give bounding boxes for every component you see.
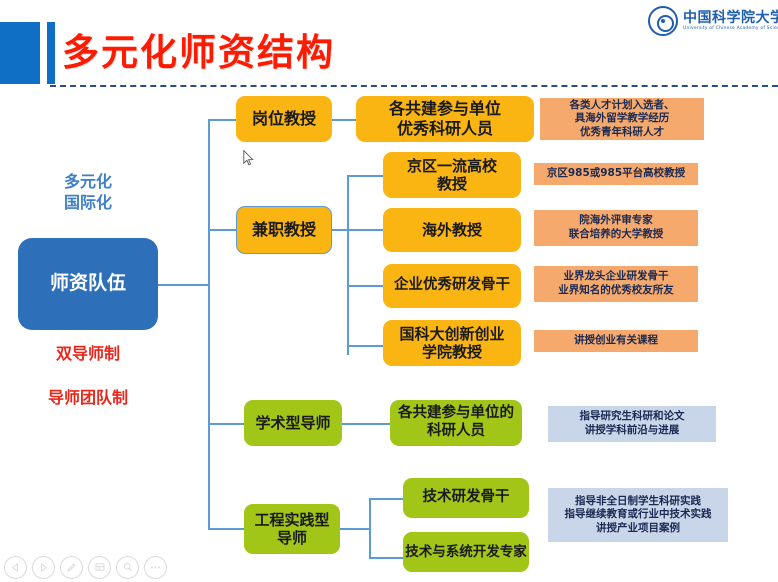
branch-node-engineering-mentor[interactable]: 工程实践型 导师: [244, 504, 340, 554]
university-logo: 中国科学院大学 University of Chinese Academy of…: [648, 4, 774, 38]
branch-node-academic-mentor[interactable]: 学术型导师: [244, 400, 342, 446]
previous-slide-button[interactable]: [4, 556, 27, 579]
child-node-adjunct-4[interactable]: 国科大创新创业 学院教授: [383, 320, 521, 366]
presentation-toolbar[interactable]: [4, 555, 167, 579]
connector-engineering-child-1: [369, 498, 403, 500]
zoom-button[interactable]: [116, 556, 139, 579]
root-node-faculty-team[interactable]: 师资队伍: [18, 238, 158, 330]
tag-engineering-group: 指导非全日制学生科研实践 指导继续教育或行业中技术实践 讲授产业项目案例: [548, 488, 728, 542]
child-node-adjunct-1[interactable]: 京区一流高校 教授: [383, 152, 521, 198]
connector-post-professor-to-child: [332, 119, 356, 121]
connector-adjunct-spine: [347, 175, 349, 355]
slide-canvas: 中国科学院大学 University of Chinese Academy of…: [0, 0, 778, 582]
header-divider: [50, 85, 778, 87]
triangle-right-icon: [39, 563, 48, 572]
header-accent-bar: [47, 22, 55, 84]
pen-tool-button[interactable]: [60, 556, 83, 579]
tag-adjunct-3: 业界龙头企业研发骨干 业界知名的优秀校友所友: [534, 266, 698, 302]
page-title: 多元化师资结构: [62, 24, 335, 82]
tag-post-professor-1: 各类人才计划入选者、 具海外留学教学经历 优秀青年科研人才: [540, 98, 704, 140]
child-node-adjunct-3[interactable]: 企业优秀研发骨干: [383, 264, 521, 308]
pen-icon: [66, 562, 77, 573]
tag-adjunct-2: 院海外评审专家 联合培养的大学教授: [534, 210, 698, 246]
child-node-post-professor-1[interactable]: 各共建参与单位 优秀科研人员: [356, 96, 534, 142]
uca-emblem-icon: [648, 6, 678, 36]
logo-name-en: University of Chinese Academy of Science…: [683, 27, 778, 31]
child-node-academic-1[interactable]: 各共建参与单位的 科研人员: [390, 400, 522, 446]
ellipsis-icon: [150, 565, 161, 570]
child-node-engineering-2[interactable]: 技术与系统开发专家: [403, 532, 529, 572]
tag-adjunct-4: 讲授创业有关课程: [534, 330, 698, 352]
mouse-pointer-icon: [243, 150, 254, 166]
header-accent-block: [0, 22, 40, 84]
left-label-mentor-team: 导师团队制: [10, 388, 166, 409]
child-node-adjunct-2[interactable]: 海外教授: [383, 208, 521, 252]
more-options-button[interactable]: [144, 556, 167, 579]
connector-engineering-spine: [369, 498, 371, 558]
connector-stub-adjunct-professor: [208, 229, 236, 231]
connector-adjunct-child-4: [347, 345, 383, 347]
grid-icon: [95, 562, 105, 572]
connector-root-stem: [158, 284, 210, 286]
connector-stub-engineering-mentor: [208, 528, 244, 530]
left-top-label: 多元化 国际化: [18, 172, 158, 214]
branch-node-adjunct-professor[interactable]: 兼职教授: [236, 206, 332, 254]
connector-engineering-child-2: [369, 557, 403, 559]
connector-adjunct-child-2: [347, 229, 383, 231]
branch-node-post-professor[interactable]: 岗位教授: [236, 96, 332, 142]
triangle-left-icon: [11, 563, 20, 572]
connector-engineering-stem: [340, 528, 370, 530]
connector-main-spine: [208, 119, 210, 529]
connector-stub-academic-mentor: [208, 423, 244, 425]
next-slide-button[interactable]: [32, 556, 55, 579]
left-label-dual-mentor: 双导师制: [18, 344, 158, 365]
connector-adjunct-child-1: [347, 175, 383, 177]
child-node-engineering-1[interactable]: 技术研发骨干: [403, 478, 529, 518]
magnifier-icon: [123, 562, 133, 572]
slide-grid-button[interactable]: [88, 556, 111, 579]
tag-academic-1: 指导研究生科研和论文 讲授学科前沿与进展: [548, 406, 716, 442]
tag-adjunct-1: 京区985或985平台高校教授: [534, 163, 698, 185]
logo-name-cn: 中国科学院大学: [683, 11, 778, 25]
connector-stub-post-professor: [208, 119, 236, 121]
logo-text: 中国科学院大学 University of Chinese Academy of…: [683, 11, 778, 32]
connector-adjunct-child-3: [347, 285, 383, 287]
connector-academic-to-child: [342, 423, 390, 425]
